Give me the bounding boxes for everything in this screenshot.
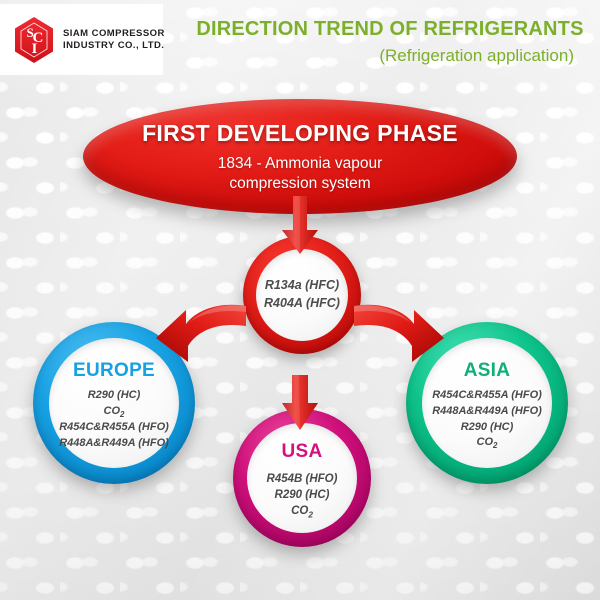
arrow-center-to-usa-icon <box>278 375 322 435</box>
region-asia-list: R454C&R455A (HFO) R448A&R449A (HFO) R290… <box>432 388 542 451</box>
region-europe-item-1: CO2 <box>59 404 169 420</box>
infographic-canvas: S C I SIAM COMPRESSOR INDUSTRY CO., LTD.… <box>0 0 600 600</box>
page-title: DIRECTION TREND OF REFRIGERANTS <box>190 18 590 41</box>
region-asia-item-2: R290 (HC) <box>432 420 542 436</box>
region-usa-item-0: R454B (HFO) <box>267 471 338 487</box>
center-node-inner: R134a (HFC) R404A (HFC) <box>256 249 348 341</box>
center-node-list: R134a (HFC) R404A (HFC) <box>264 277 340 313</box>
page-subtitle: (Refrigeration application) <box>190 46 590 66</box>
phase-subtitle: 1834 - Ammonia vapour compression system <box>218 154 383 194</box>
center-item-0: R134a (HFC) <box>264 277 340 295</box>
company-logo-block: S C I SIAM COMPRESSOR INDUSTRY CO., LTD. <box>0 4 163 75</box>
phase-title: FIRST DEVELOPING PHASE <box>142 120 458 147</box>
page-title-block: DIRECTION TREND OF REFRIGERANTS (Refrige… <box>190 18 590 66</box>
arrow-center-to-europe-icon <box>152 300 248 372</box>
region-europe-item-3: R448A&R449A (HFO) <box>59 436 169 452</box>
region-europe-item-0: R290 (HC) <box>59 388 169 404</box>
region-europe-list: R290 (HC) CO2 R454C&R455A (HFO) R448A&R4… <box>59 388 169 451</box>
region-usa-item-1: R290 (HC) <box>267 487 338 503</box>
logo-company-line1: SIAM COMPRESSOR <box>63 28 165 40</box>
region-asia-title: ASIA <box>464 360 511 382</box>
region-europe-title: EUROPE <box>73 360 155 382</box>
region-asia-item-3: CO2 <box>432 435 542 451</box>
region-asia-item-0: R454C&R455A (HFO) <box>432 388 542 404</box>
logo-company-line2: INDUSTRY CO., LTD. <box>63 40 165 52</box>
phase-subtitle-line1: 1834 - Ammonia vapour <box>218 154 383 174</box>
region-usa-inner: USA R454B (HFO) R290 (HC) CO2 <box>247 423 357 533</box>
region-asia-item-1: R448A&R449A (HFO) <box>432 404 542 420</box>
sci-hexagon-logo-icon: S C I <box>12 15 56 65</box>
arrow-center-to-asia-icon <box>352 300 448 372</box>
center-item-1: R404A (HFC) <box>264 295 340 313</box>
region-usa-item-2: CO2 <box>267 503 338 521</box>
phase-subtitle-line2: compression system <box>218 174 383 194</box>
region-usa-title: USA <box>281 441 322 463</box>
region-usa-list: R454B (HFO) R290 (HC) CO2 <box>267 471 338 522</box>
region-europe-item-2: R454C&R455A (HFO) <box>59 420 169 436</box>
svg-text:I: I <box>32 41 38 57</box>
arrow-phase-to-center-icon <box>277 196 323 262</box>
